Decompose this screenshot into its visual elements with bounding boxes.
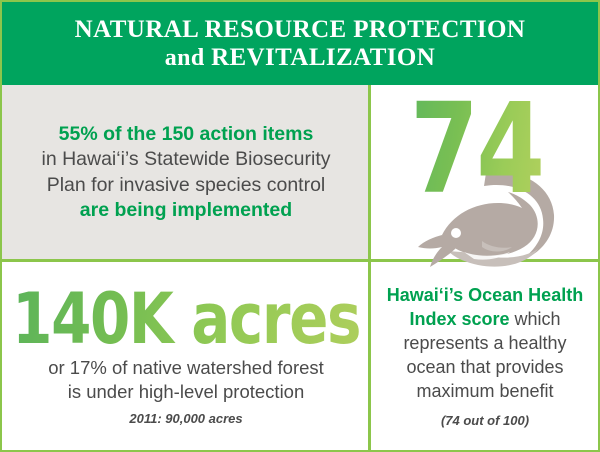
biosecurity-text-stack: 55% of the 150 action items in Hawai‘i’s… <box>41 122 330 223</box>
infographic-card: NATURAL RESOURCE PROTECTION and REVITALI… <box>0 0 600 452</box>
acres-big-number: 140K acres <box>12 286 360 353</box>
header-title-line-2-main: REVITALIZATION <box>211 44 435 71</box>
acres-subtitle-line-1: or 17% of native watershed forest <box>48 356 324 380</box>
biosecurity-line-2: in Hawai‘i’s Statewide Biosecurity <box>41 147 330 172</box>
header-title-conjunction: and <box>165 45 211 71</box>
ocean-line-1: Hawai‘i’s Ocean Health <box>387 284 583 308</box>
biosecurity-line-4: are being implemented <box>41 198 330 223</box>
ocean-line-4: ocean that provides <box>387 356 583 380</box>
panel-watershed-acres: 140K acres or 17% of native watershed fo… <box>2 262 370 450</box>
header-title-line-2: and REVITALIZATION <box>165 44 435 72</box>
ocean-line-2: Index score which <box>387 308 583 332</box>
header-banner: NATURAL RESOURCE PROTECTION and REVITALI… <box>2 2 598 85</box>
biosecurity-line-1: 55% of the 150 action items <box>41 122 330 147</box>
biosecurity-line-3: Plan for invasive species control <box>41 173 330 198</box>
ocean-line-3: represents a healthy <box>387 332 583 356</box>
ocean-line-2-bold: Index score <box>409 309 509 329</box>
panel-ocean-health-score: 74 <box>372 85 598 260</box>
ocean-health-score-number: 74 <box>410 87 542 212</box>
acres-subtitle-line-2: is under high-level protection <box>68 380 305 404</box>
score-artwork-wrapper: 74 <box>372 85 598 260</box>
acres-footnote: 2011: 90,000 acres <box>129 411 242 426</box>
header-title-line-1: NATURAL RESOURCE PROTECTION <box>75 16 526 44</box>
panel-biosecurity: 55% of the 150 action items in Hawai‘i’s… <box>2 85 370 260</box>
divider-vertical <box>368 85 371 450</box>
ocean-text-stack: Hawai‘i’s Ocean Health Index score which… <box>387 284 583 404</box>
ocean-footnote: (74 out of 100) <box>441 413 529 428</box>
ocean-line-2-rest: which <box>510 309 561 329</box>
panel-ocean-health-text: Hawai‘i’s Ocean Health Index score which… <box>372 262 598 450</box>
ocean-line-5: maximum benefit <box>387 380 583 404</box>
